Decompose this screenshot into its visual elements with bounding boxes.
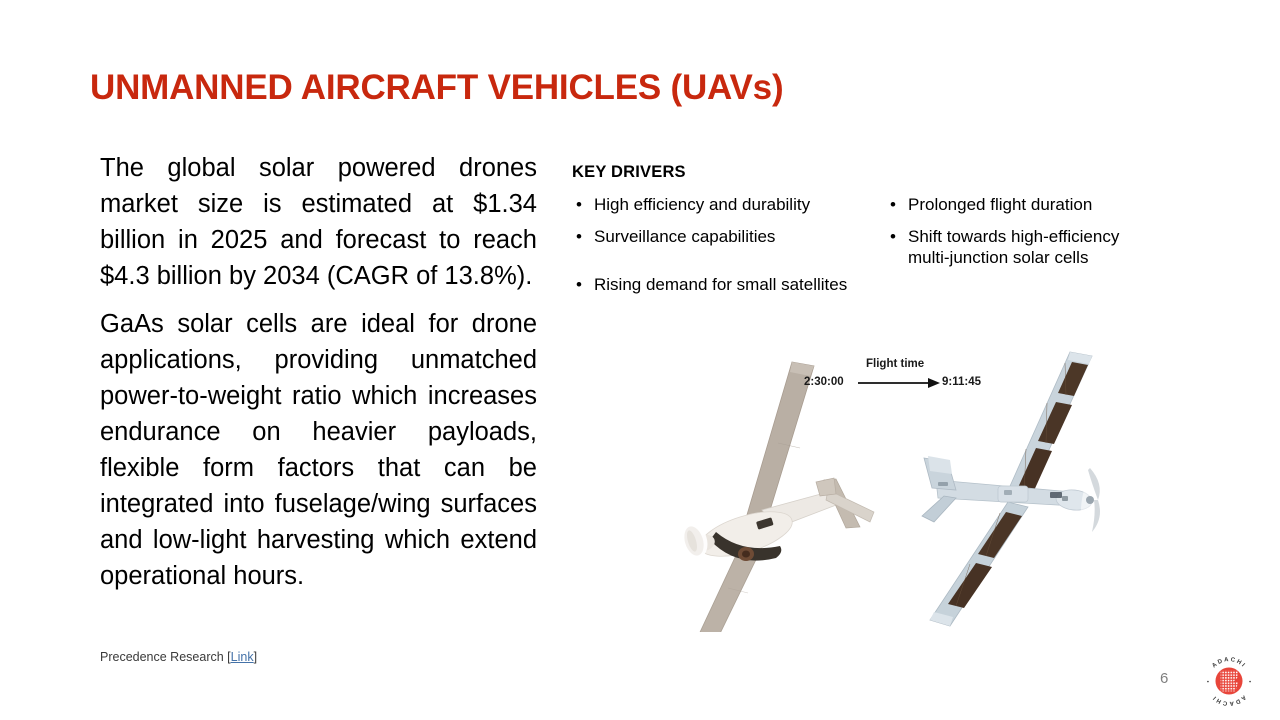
list-item: • High efficiency and durability	[572, 194, 872, 215]
body-paragraph-2: GaAs solar cells are ideal for drone app…	[100, 306, 537, 594]
body-text-column: The global solar powered drones market s…	[100, 150, 537, 594]
list-item: • Surveillance capabilities	[572, 226, 872, 247]
bullet-dot-icon: •	[576, 194, 582, 215]
logo-separator-dot	[1249, 681, 1251, 683]
source-link[interactable]: Link	[231, 650, 254, 664]
list-item-label: Shift towards high-efficiency multi-junc…	[908, 227, 1119, 267]
bullet-dot-icon: •	[890, 194, 896, 215]
key-drivers-left-column: • High efficiency and durability • Surve…	[572, 194, 872, 306]
list-item: • Rising demand for small satellites	[572, 274, 872, 295]
logo-ring-text-bottom: ADACHI	[1211, 694, 1247, 706]
solar-uav-graphic	[922, 352, 1112, 626]
uav-comparison-figure: Flight time 2:30:00 9:11:45	[654, 332, 1166, 632]
flight-time-label: Flight time	[866, 358, 924, 370]
flight-time-arrow-icon	[858, 376, 942, 390]
bullet-dot-icon: •	[890, 226, 896, 247]
source-citation-text-end: ]	[254, 650, 257, 664]
source-citation: Precedence Research [Link]	[100, 650, 257, 664]
logo-separator-dot	[1207, 681, 1209, 683]
list-item-label: Surveillance capabilities	[594, 227, 775, 246]
flight-time-start-value: 2:30:00	[804, 376, 844, 388]
list-item-label: Prolonged flight duration	[908, 195, 1092, 214]
key-drivers-right-column: • Prolonged flight duration • Shift towa…	[886, 194, 1161, 279]
bullet-dot-icon: •	[576, 274, 582, 295]
bullet-dot-icon: •	[576, 226, 582, 247]
list-item: • Shift towards high-efficiency multi-ju…	[886, 226, 1161, 268]
adachi-logo: ADACHI ADACHI	[1203, 655, 1255, 707]
slide-canvas: UNMANNED AIRCRAFT VEHICLES (UAVs) The gl…	[0, 0, 1280, 720]
list-item-label: High efficiency and durability	[594, 195, 810, 214]
list-item-label: Rising demand for small satellites	[594, 275, 847, 294]
page-title: UNMANNED AIRCRAFT VEHICLES (UAVs)	[90, 68, 1090, 108]
key-drivers-heading: KEY DRIVERS	[572, 163, 686, 182]
conventional-uav-graphic	[676, 362, 874, 632]
flight-time-end-value: 9:11:45	[942, 376, 981, 388]
source-citation-text: Precedence Research [	[100, 650, 231, 664]
list-item: • Prolonged flight duration	[886, 194, 1161, 215]
page-number: 6	[1160, 670, 1168, 687]
body-paragraph-1: The global solar powered drones market s…	[100, 150, 537, 294]
